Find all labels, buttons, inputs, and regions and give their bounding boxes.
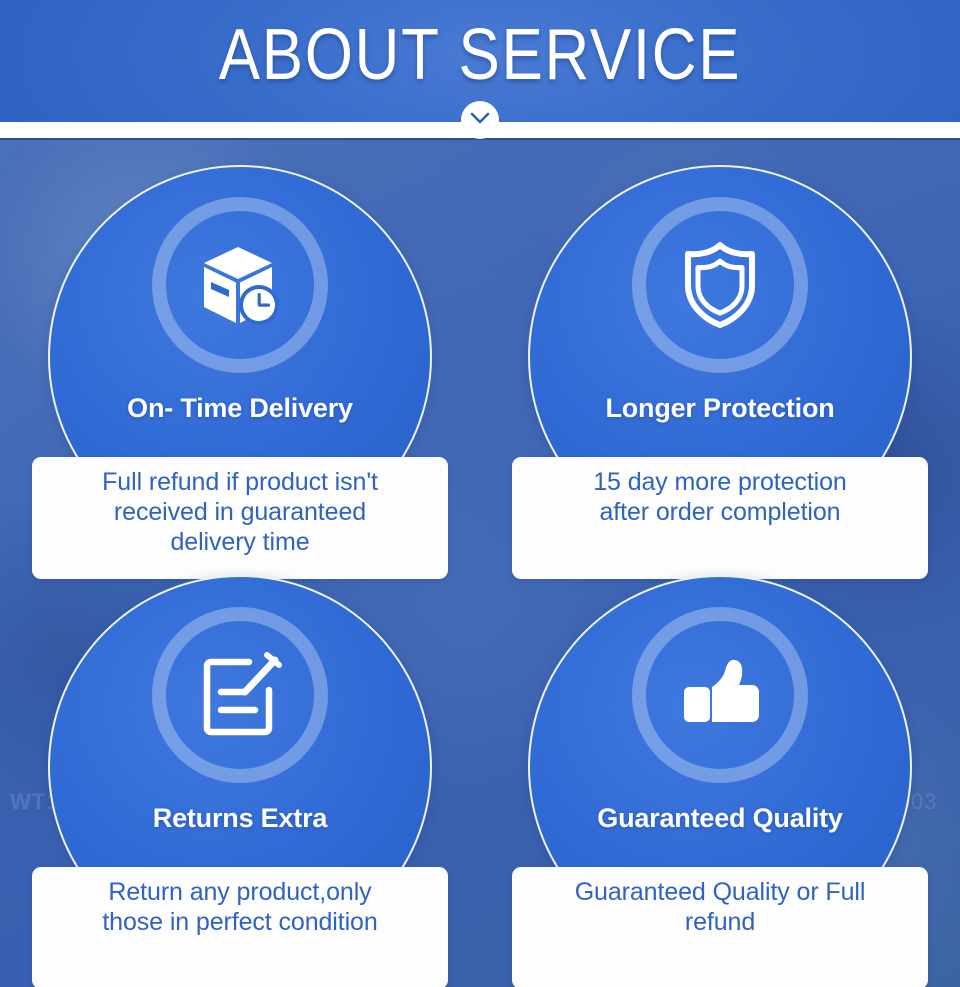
package-clock-icon [194, 239, 286, 331]
service-card-on-time-delivery[interactable]: On- Time Delivery Full refund if product… [0, 165, 480, 590]
card-description: Guaranteed Quality or Full refund [524, 877, 916, 937]
card-description-box: Guaranteed Quality or Full refund [512, 867, 928, 987]
about-service-banner: ABOUT SERVICE WT1 134603 [0, 0, 960, 987]
service-card-guaranteed-quality[interactable]: Guaranteed Quality Guaranteed Quality or… [480, 575, 960, 987]
card-description-box: Full refund if product isn't received in… [32, 457, 448, 579]
card-description-box: 15 day more protection after order compl… [512, 457, 928, 579]
card-title: On- Time Delivery [0, 393, 480, 424]
shield-icon [674, 239, 766, 331]
edit-document-icon [194, 649, 286, 741]
card-title: Longer Protection [480, 393, 960, 424]
card-description: Return any product,only those in perfect… [44, 877, 436, 937]
card-description: Full refund if product isn't received in… [44, 467, 436, 557]
card-title: Returns Extra [0, 803, 480, 834]
thumbs-up-icon [674, 649, 766, 741]
card-description: 15 day more protection after order compl… [524, 467, 916, 527]
chevron-down-icon[interactable] [461, 101, 499, 139]
page-title: ABOUT SERVICE [67, 16, 893, 94]
service-card-returns-extra[interactable]: Returns Extra Return any product,only th… [0, 575, 480, 987]
service-card-grid: On- Time Delivery Full refund if product… [0, 138, 960, 987]
service-card-longer-protection[interactable]: Longer Protection 15 day more protection… [480, 165, 960, 590]
card-description-box: Return any product,only those in perfect… [32, 867, 448, 987]
card-title: Guaranteed Quality [480, 803, 960, 834]
